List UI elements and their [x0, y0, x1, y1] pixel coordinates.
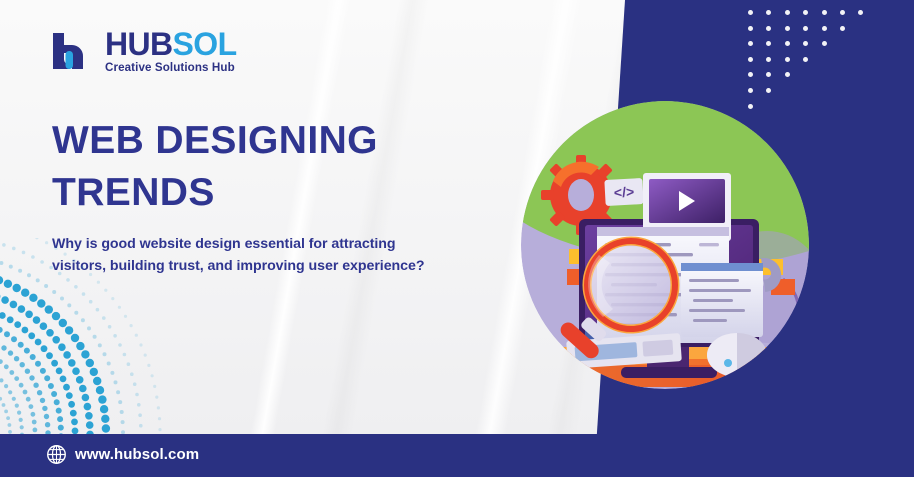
dot	[766, 10, 771, 15]
radial-dot	[32, 420, 37, 425]
radial-dot	[139, 343, 142, 346]
radial-dot	[29, 375, 34, 380]
radial-dot	[84, 403, 92, 411]
radial-dot	[58, 425, 64, 431]
radial-dot	[102, 316, 106, 320]
dot	[748, 72, 753, 77]
radial-dot	[15, 404, 19, 408]
radial-dot	[130, 324, 133, 327]
radial-dot	[11, 336, 17, 342]
radial-dot	[85, 412, 93, 420]
radial-dot	[29, 294, 37, 302]
radial-dot	[44, 375, 50, 381]
radial-dot	[56, 368, 63, 375]
dot	[748, 88, 753, 93]
dot	[785, 41, 790, 46]
radial-dot	[86, 359, 94, 367]
radial-dot	[29, 404, 34, 409]
radial-dot	[8, 350, 13, 355]
radial-dot-burst-pattern	[0, 238, 212, 438]
radial-dot	[37, 299, 45, 307]
radial-dot	[23, 390, 28, 395]
radial-dot	[96, 308, 100, 312]
radial-dot	[41, 345, 48, 352]
brand-logo[interactable]: HUBSOL Creative Solutions Hub	[50, 26, 237, 74]
radial-dot	[0, 378, 4, 382]
radial-dot	[56, 408, 62, 414]
dot	[822, 10, 827, 15]
radial-dot	[118, 400, 122, 404]
logo-wordmark: HUBSOL Creative Solutions Hub	[105, 26, 237, 74]
dot	[803, 10, 808, 15]
radial-dot	[12, 397, 16, 401]
radial-dot	[93, 377, 101, 385]
radial-dot	[89, 273, 92, 276]
radial-dot	[135, 393, 139, 397]
dot	[766, 57, 771, 62]
dot	[803, 41, 808, 46]
radial-dot	[14, 376, 19, 381]
radial-dot	[52, 312, 60, 320]
radial-dot	[13, 284, 21, 292]
radial-dot	[14, 321, 21, 328]
radial-dot	[46, 329, 54, 337]
headline-line-2: TRENDS	[52, 167, 378, 219]
globe-icon	[46, 444, 67, 465]
radial-dot	[44, 414, 49, 419]
radial-dot	[116, 390, 120, 394]
radial-dot	[138, 413, 142, 417]
svg-text:</>: </>	[613, 183, 634, 200]
radial-dot	[20, 362, 25, 367]
banner-canvas: HUBSOL Creative Solutions Hub WEB DESIGN…	[0, 0, 914, 477]
radial-dot	[26, 397, 31, 402]
radial-dot	[86, 421, 94, 429]
radial-dot	[54, 399, 60, 405]
radial-dot	[104, 289, 107, 292]
radial-dot	[82, 394, 90, 402]
dot	[840, 10, 845, 15]
radial-dot	[12, 247, 16, 251]
dot-row	[748, 41, 877, 57]
radial-dot	[72, 259, 75, 262]
radial-dot	[52, 290, 56, 294]
radial-dot	[59, 319, 67, 327]
code-tag-icon: </>	[604, 178, 643, 206]
radial-dot	[118, 343, 122, 347]
radial-dot	[158, 417, 161, 420]
footer-website-text: www.hubsol.com	[75, 446, 199, 463]
radial-dot	[1, 296, 9, 304]
radial-dot	[40, 322, 48, 330]
radial-dot	[60, 297, 64, 301]
dot	[766, 26, 771, 31]
radial-dot	[20, 425, 24, 429]
radial-dot	[19, 418, 23, 422]
radial-dot	[81, 266, 84, 269]
radial-dot	[1, 345, 6, 350]
dot	[748, 10, 753, 15]
dot	[766, 88, 771, 93]
radial-dot	[0, 312, 6, 319]
radial-dot	[108, 325, 112, 329]
radial-dot	[8, 390, 12, 394]
logo-hub-text: HUB	[105, 26, 173, 62]
radial-dot	[45, 305, 53, 313]
radial-dot	[14, 356, 19, 361]
radial-dot	[93, 335, 97, 339]
dot	[748, 26, 753, 31]
radial-dot	[157, 406, 160, 409]
web-design-workspace-illustration: </>	[521, 101, 809, 389]
radial-dot	[79, 385, 87, 393]
page-title: WEB DESIGNING TRENDS	[52, 115, 378, 219]
hubsol-h-mark-icon	[50, 26, 96, 72]
radial-dot	[0, 276, 3, 284]
radial-dot	[63, 384, 70, 391]
radial-dot	[89, 300, 93, 304]
radial-dot	[10, 301, 18, 309]
radial-dot	[144, 354, 147, 357]
radial-dot	[37, 390, 42, 395]
radial-dot	[4, 280, 12, 288]
radial-dot	[66, 278, 70, 282]
radial-dot	[113, 334, 117, 338]
radial-dot	[101, 415, 109, 423]
dot	[748, 104, 753, 109]
radial-dot	[90, 368, 98, 376]
radial-dot	[44, 284, 48, 288]
radial-dot	[31, 255, 35, 259]
radial-dot	[74, 311, 78, 315]
radial-dot	[57, 416, 63, 422]
radial-dot	[54, 247, 57, 250]
radial-dot	[18, 342, 24, 348]
radial-dot	[120, 410, 124, 414]
radial-dot	[4, 410, 8, 414]
radial-dot	[123, 353, 127, 357]
footer-bar: www.hubsol.com	[0, 434, 914, 477]
radial-dot	[135, 334, 138, 337]
radial-dot	[40, 398, 45, 403]
radial-dot	[35, 238, 38, 239]
radial-dot	[72, 367, 80, 375]
dot	[766, 41, 771, 46]
radial-dot	[151, 374, 154, 377]
radial-dot	[7, 316, 14, 323]
radial-dot	[8, 423, 12, 427]
dot-triangle-pattern	[748, 10, 877, 119]
dot	[785, 72, 790, 77]
radial-dot	[51, 391, 57, 397]
radial-dot	[0, 397, 2, 401]
radial-dot	[28, 332, 35, 339]
radial-dot	[153, 385, 156, 388]
radial-dot	[100, 405, 108, 413]
radial-dot	[40, 368, 46, 374]
radial-dot	[103, 352, 107, 356]
radial-dot	[27, 273, 31, 277]
radial-dot	[60, 376, 67, 383]
radial-dot	[74, 285, 78, 289]
radial-dot	[25, 311, 33, 319]
radial-dot	[40, 260, 44, 264]
radial-dot	[114, 380, 118, 384]
radial-dot	[4, 384, 8, 388]
radial-dot	[71, 419, 78, 426]
radial-dot	[51, 360, 58, 367]
radial-dot	[68, 359, 76, 367]
radial-dot	[22, 251, 26, 255]
radial-dot	[45, 422, 50, 427]
radial-dot	[82, 292, 86, 296]
radial-dot	[0, 261, 3, 265]
radial-dot	[76, 376, 84, 384]
radial-dot	[130, 372, 134, 376]
radial-dot	[9, 370, 14, 375]
radial-dot	[9, 265, 13, 269]
radial-dot	[18, 269, 22, 273]
radial-dot	[107, 362, 111, 366]
radial-dot	[35, 361, 41, 367]
footer-website-link[interactable]: www.hubsol.com	[46, 444, 199, 465]
radial-dot	[65, 326, 73, 334]
dot	[840, 26, 845, 31]
dot	[822, 41, 827, 46]
radial-dot	[87, 326, 91, 330]
dot-row	[748, 72, 877, 88]
radial-dot	[2, 243, 6, 247]
radial-dot	[63, 351, 71, 359]
radial-dot	[64, 253, 67, 256]
dot-row	[748, 10, 877, 26]
radial-dot	[6, 416, 10, 420]
radial-dot	[70, 410, 77, 417]
logo-tagline: Creative Solutions Hub	[105, 62, 237, 74]
radial-dot	[24, 348, 30, 354]
radial-dot	[18, 305, 26, 313]
radial-dot	[0, 327, 3, 333]
radial-dot	[158, 428, 161, 431]
radial-dot	[124, 315, 127, 318]
dot	[803, 57, 808, 62]
dot	[748, 41, 753, 46]
radial-dot	[127, 362, 131, 366]
dot-row	[748, 57, 877, 73]
dot	[766, 72, 771, 77]
radial-dot	[147, 364, 150, 367]
radial-dot	[98, 343, 102, 347]
radial-dot	[46, 352, 53, 359]
dot	[785, 10, 790, 15]
radial-dot	[22, 327, 29, 334]
radial-dot	[110, 371, 114, 375]
radial-dot	[96, 386, 104, 394]
radial-dot	[42, 406, 47, 411]
dot-row	[748, 104, 877, 120]
dot	[785, 57, 790, 62]
radial-dot	[81, 318, 85, 322]
radial-dot	[111, 297, 114, 300]
radial-dot	[71, 334, 79, 342]
dot-row	[748, 26, 877, 42]
radial-dot	[102, 424, 110, 432]
dot	[822, 26, 827, 31]
logo-sol-text: SOL	[173, 26, 237, 62]
radial-dot	[30, 354, 36, 360]
radial-dot	[2, 403, 6, 407]
radial-dot	[45, 241, 48, 244]
radial-dot	[66, 392, 73, 399]
headline-line-1: WEB DESIGNING	[52, 115, 378, 167]
radial-dot	[98, 395, 106, 403]
dot	[785, 26, 790, 31]
computer-mouse-icon	[707, 333, 767, 377]
radial-dot	[4, 331, 10, 337]
radial-dot	[0, 359, 3, 364]
radial-dot	[76, 342, 84, 350]
radial-dot	[118, 306, 121, 309]
radial-dot	[137, 403, 141, 407]
radial-dot	[52, 336, 60, 344]
radial-dot	[133, 382, 137, 386]
radial-dot	[17, 411, 21, 415]
radial-dot	[31, 412, 36, 417]
dot	[858, 10, 863, 15]
radial-dot	[33, 383, 38, 388]
radial-dot	[68, 401, 75, 408]
radial-dot	[35, 339, 42, 346]
radial-dot	[49, 266, 53, 270]
radial-dot	[4, 364, 9, 369]
radial-dot	[58, 343, 66, 351]
radial-dot	[58, 272, 62, 276]
radial-dot	[25, 369, 30, 374]
radial-dot	[139, 424, 143, 428]
radial-dot	[155, 396, 158, 399]
radial-dot	[81, 350, 89, 358]
radial-dot	[21, 289, 29, 297]
dot	[803, 26, 808, 31]
radial-dot	[48, 383, 54, 389]
dot	[748, 57, 753, 62]
radial-dot	[67, 303, 71, 307]
radial-dot	[121, 420, 125, 424]
radial-dot	[36, 278, 40, 282]
radial-dot	[33, 428, 38, 433]
code-window-secondary-icon	[681, 263, 763, 337]
radial-dot	[19, 383, 24, 388]
dot-row	[748, 88, 877, 104]
radial-dot	[33, 316, 41, 324]
radial-dot	[97, 281, 100, 284]
